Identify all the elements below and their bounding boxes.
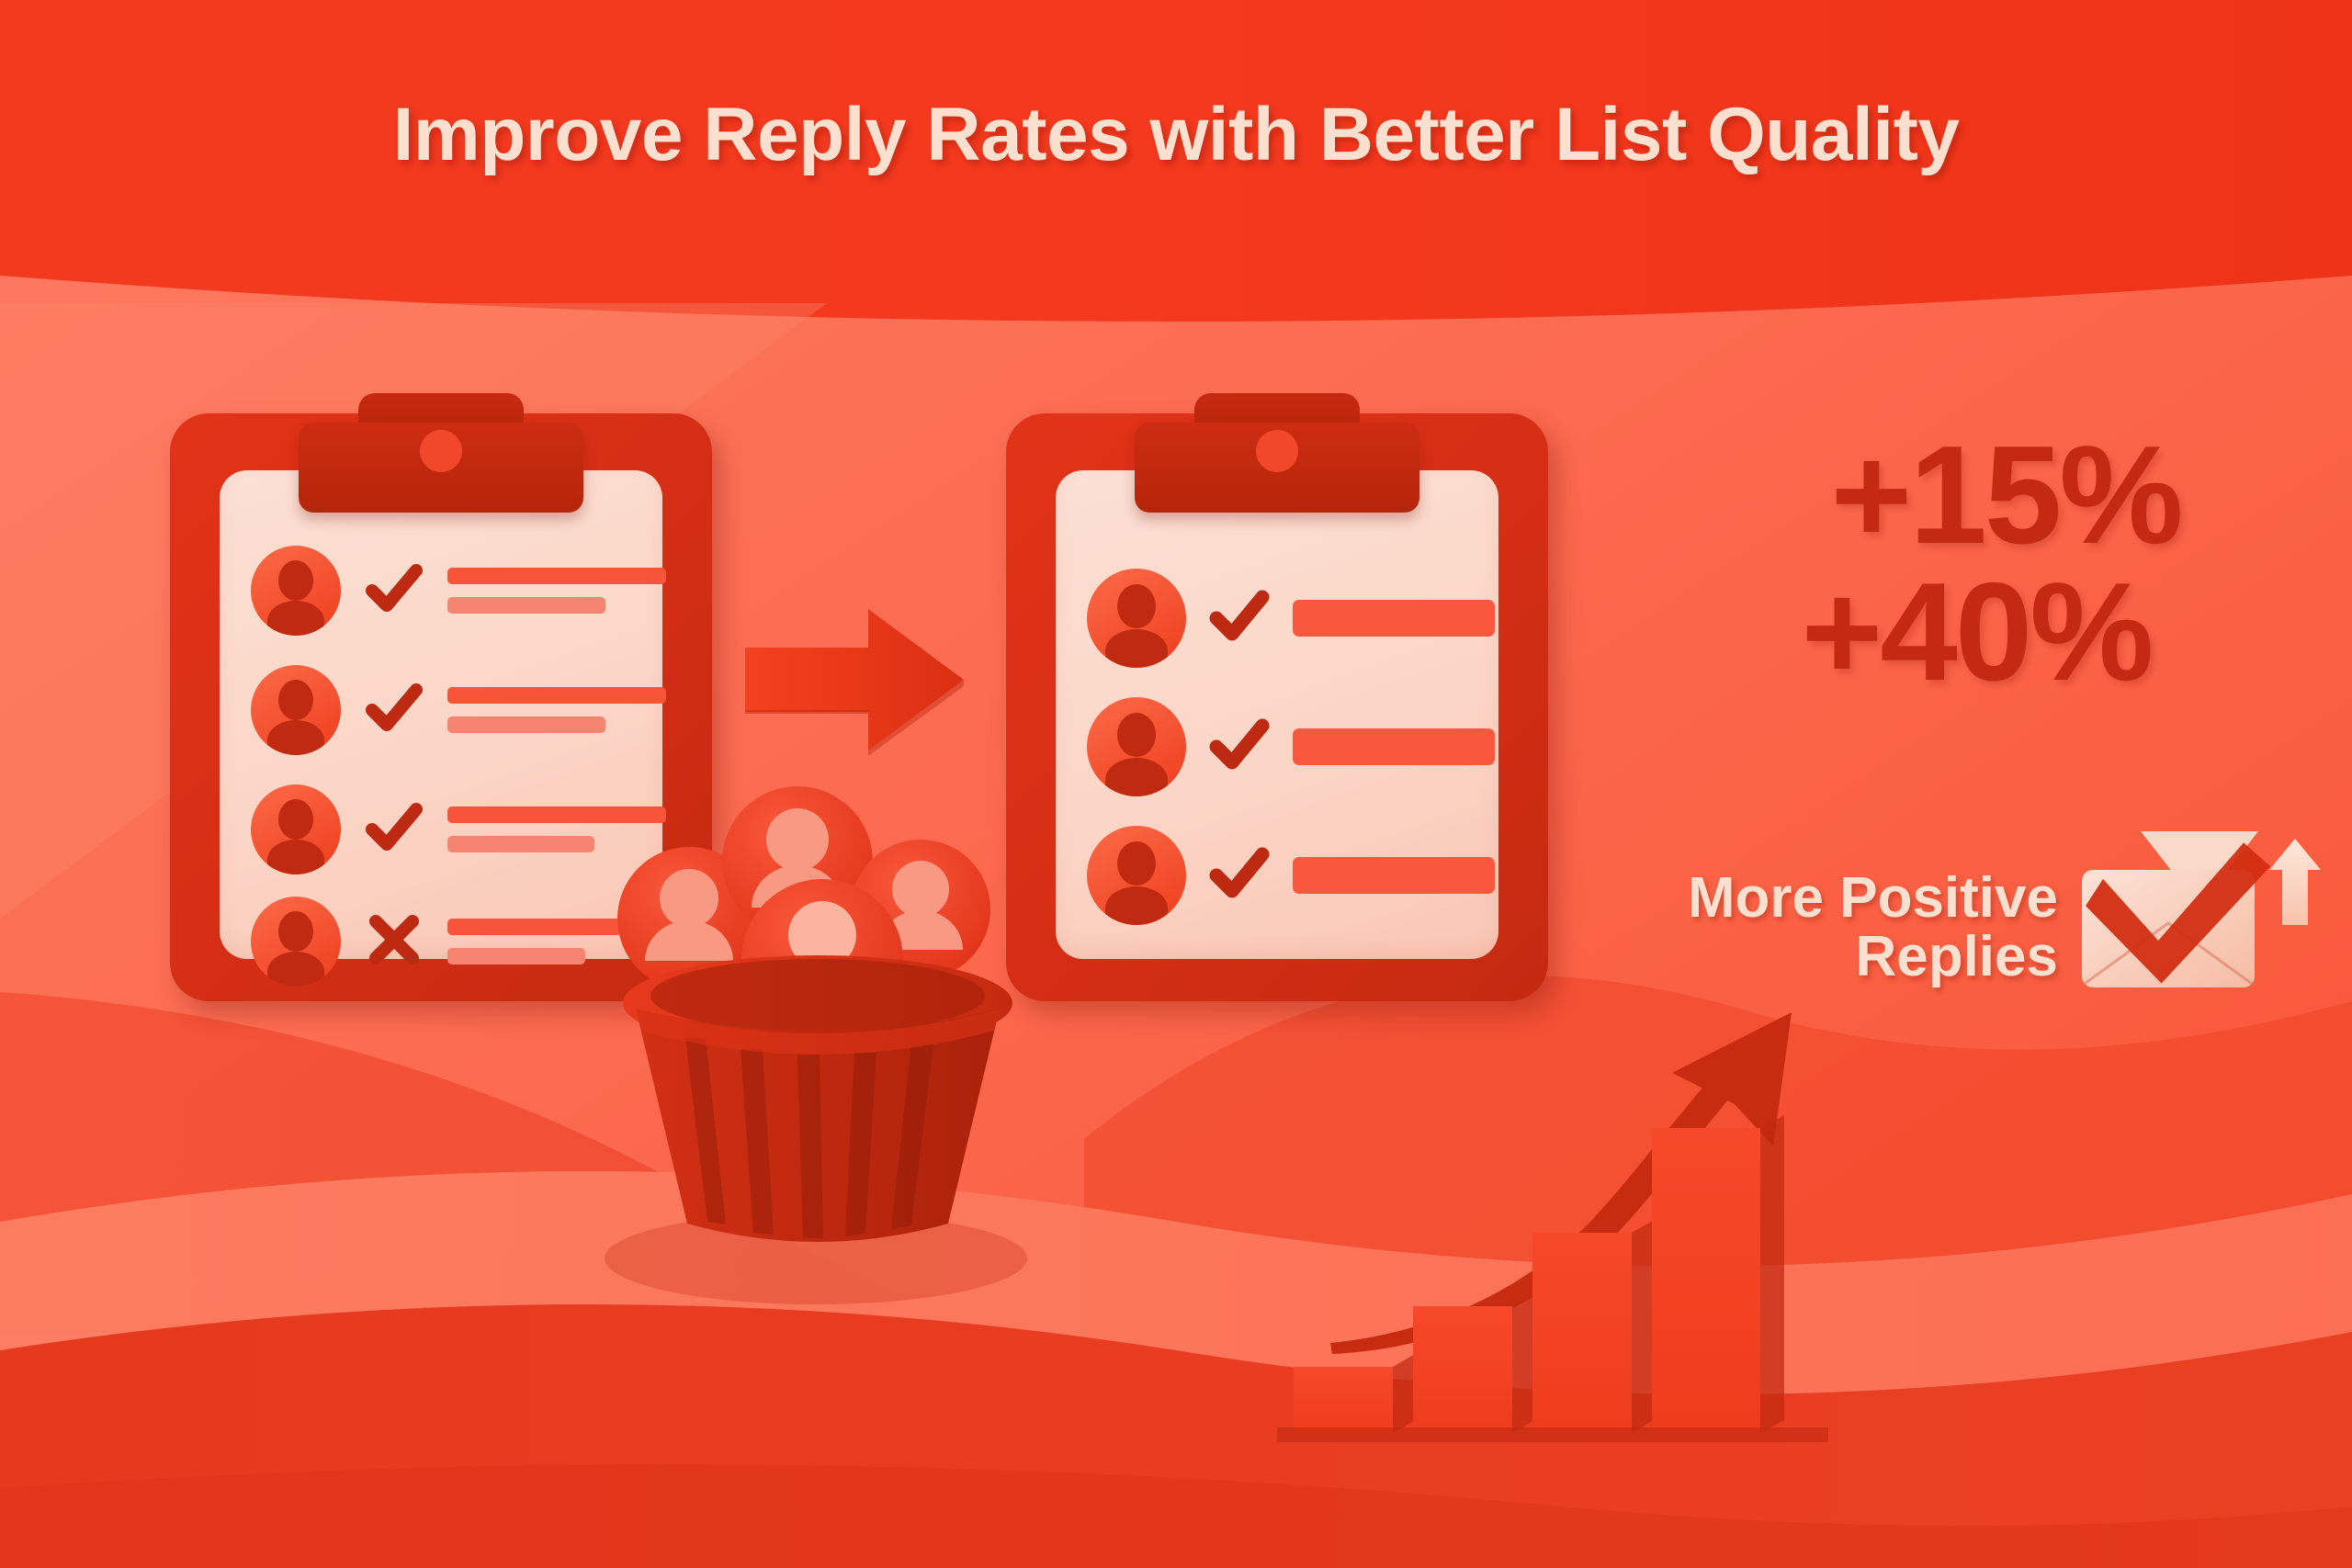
clipboard-clip-hole <box>1256 430 1298 472</box>
bar <box>1532 1233 1632 1433</box>
replies-caption-line-1: More Positive <box>1688 866 2058 930</box>
avatar <box>251 897 341 987</box>
arrow-right-icon <box>740 602 969 758</box>
row-text-bar <box>1293 600 1495 637</box>
x-icon <box>361 907 427 977</box>
avatar <box>251 665 341 755</box>
bar-series <box>1294 1115 1784 1433</box>
check-icon <box>361 675 427 746</box>
replies-caption: More Positive Replies <box>1599 869 2058 987</box>
row-text-bar <box>1293 857 1495 894</box>
avatar <box>1087 697 1186 796</box>
list-item[interactable] <box>1087 696 1495 797</box>
avatar <box>1087 569 1186 668</box>
bar <box>1413 1306 1512 1433</box>
list-item[interactable] <box>251 891 622 992</box>
chart-baseline <box>1277 1427 1828 1442</box>
list-item[interactable] <box>1087 568 1495 669</box>
bar <box>1294 1367 1393 1433</box>
list-item[interactable] <box>1087 825 1495 926</box>
avatar <box>1087 826 1186 925</box>
envelope-check-icon <box>2075 822 2332 1033</box>
replies-caption-line-2: Replies <box>1599 928 2058 987</box>
after-clipboard <box>1006 413 1548 1001</box>
list-item[interactable] <box>251 540 666 641</box>
row-text-bar <box>1293 728 1495 765</box>
row-text-lines <box>447 687 666 733</box>
row-text-lines <box>447 568 666 614</box>
check-icon <box>1204 581 1274 656</box>
avatar <box>251 546 341 636</box>
clipboard-clip-hole <box>420 430 462 472</box>
bar <box>1652 1128 1760 1433</box>
list-item[interactable] <box>251 660 666 761</box>
avatar <box>251 784 341 874</box>
check-icon <box>361 556 427 626</box>
bar-chart <box>1277 983 1939 1442</box>
growth-chart <box>1277 983 1939 1442</box>
check-icon <box>1204 839 1274 913</box>
infographic-canvas: Improve Reply Rates with Better List Qua… <box>0 0 2352 1568</box>
trash-basket-icon <box>570 762 1047 1323</box>
check-icon <box>1204 710 1274 784</box>
check-icon <box>361 795 427 865</box>
